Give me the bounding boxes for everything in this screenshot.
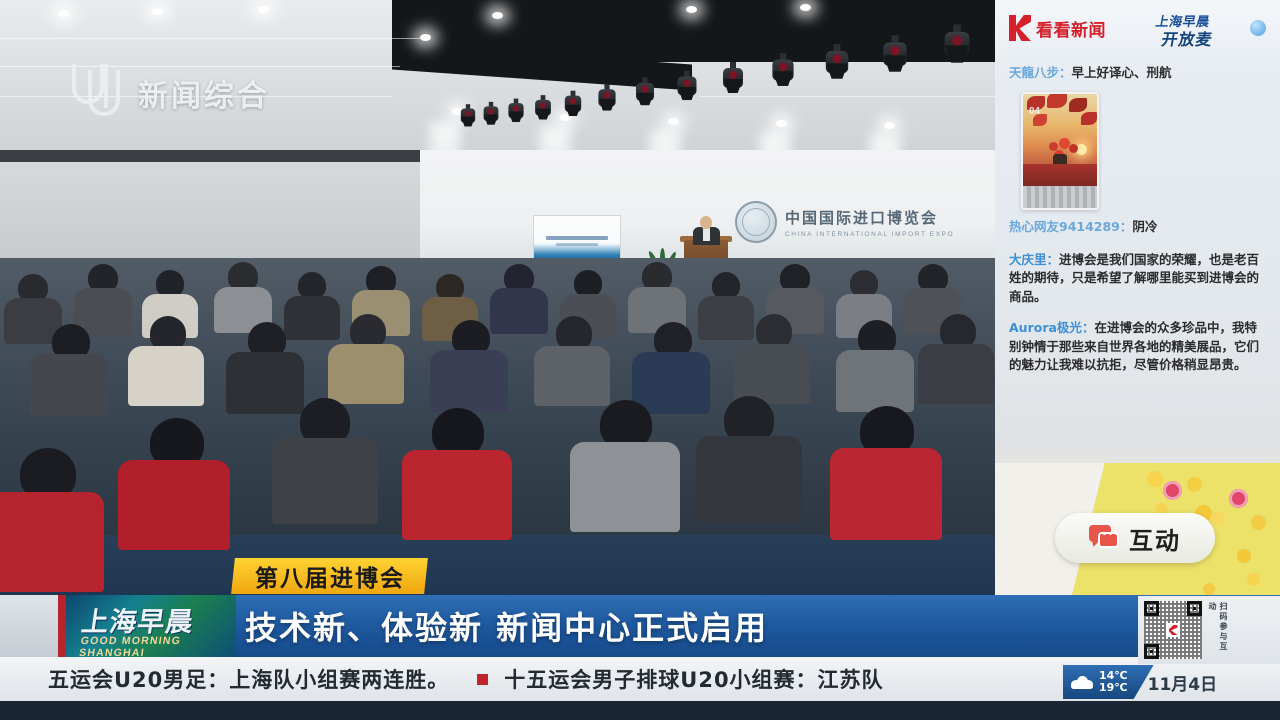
ceiling-downlight <box>668 118 679 125</box>
dragon-mark-icon <box>70 62 128 124</box>
weather-date: 11月4日 <box>1148 670 1218 695</box>
stage-spotlight <box>880 35 911 70</box>
stage-spotlight <box>596 84 618 110</box>
sidebar-header: 看看新闻 上海早晨 开放麦 <box>995 0 1280 56</box>
kankan-news-label: 看看新闻 <box>1036 16 1106 41</box>
bottom-bar <box>0 701 1280 720</box>
message-separator: ： <box>1120 219 1133 234</box>
lower-third: 上海早晨 GOOD MORNING SHANGHAI 技术新、体验新 新闻中心正… <box>0 595 1280 720</box>
channel-name: 新闻综合 <box>138 71 270 115</box>
ceiling-downlight <box>258 6 269 13</box>
stage-spotlight <box>481 102 500 124</box>
backdrop-title-en: CHINA INTERNATIONAL IMPORT EXPO <box>785 231 954 238</box>
ceiling-downlight <box>686 6 697 13</box>
weather-temp-high: 19℃ <box>1099 682 1128 694</box>
stage-spotlight <box>941 24 973 61</box>
ticker-item: 十五运会男子排球U20小组赛：江苏队 <box>504 664 883 694</box>
message-author: 热心网友9414289 <box>1009 219 1120 234</box>
speaker-shirt <box>703 228 710 241</box>
ciie-emblem-icon <box>735 201 777 243</box>
message-separator: ： <box>1047 252 1060 267</box>
stage-spotlight <box>562 91 583 116</box>
message-text: 早上好译心、刑航 <box>1072 65 1172 80</box>
event-tag-badge: 第八届进博会 <box>231 558 428 594</box>
list-item: 热心网友9414289：阴冷 <box>1009 218 1266 237</box>
program-logo-cn: 上海早晨 <box>79 600 196 639</box>
chat-bubbles-icon <box>1089 525 1119 551</box>
stage-spotlight <box>459 104 478 126</box>
program-line-2: 开放麦 <box>1160 26 1215 50</box>
list-item: 大庆里：进博会是我们国家的荣耀，也是老百姓的期待，只是希望了解哪里能买到进博会的… <box>1009 251 1266 307</box>
stage-spotlight <box>769 53 797 85</box>
weather-widget: 14℃ 19℃ 11月4日 <box>1063 665 1217 699</box>
stage-spotlight <box>675 71 700 100</box>
message-author: 大庆里 <box>1009 252 1047 267</box>
program-badge: 上海早晨 开放麦 <box>1154 10 1266 46</box>
stage-spotlight <box>720 62 746 92</box>
list-item: Aurora极光：在进博会的众多珍品中，我特别钟情于那些来自世界各地的精美展品，… <box>1009 319 1266 375</box>
weather-chip: 14℃ 19℃ <box>1063 665 1154 699</box>
ceiling-downlight <box>58 10 69 17</box>
message-text: 阴冷 <box>1132 219 1157 234</box>
program-logo: 上海早晨 GOOD MORNING SHANGHAI <box>58 595 236 657</box>
ceiling-downlight <box>492 12 503 19</box>
blue-dot-icon <box>1250 20 1266 36</box>
kankan-news-logo[interactable]: 看看新闻 <box>1009 15 1106 41</box>
event-tag-label: 第八届进博会 <box>255 559 405 593</box>
stage-spotlight <box>506 99 526 122</box>
interact-label: 互动 <box>1129 521 1181 556</box>
message-separator: ： <box>1059 65 1072 80</box>
qr-panel[interactable]: 扫码参与互动 <box>1138 596 1280 664</box>
video-feed: 中国国际进口博览会 CHINA INTERNATIONAL IMPORT EXP… <box>0 0 995 595</box>
ceiling-downlight <box>776 120 787 127</box>
interact-button[interactable]: 互动 <box>1055 513 1215 563</box>
interaction-sidebar: 看看新闻 上海早晨 开放麦 天龍八步：早上好译心、刑航 <box>995 0 1280 595</box>
red-square-bullet-icon <box>477 674 488 685</box>
message-list[interactable]: 天龍八步：早上好译心、刑航 04 热心网友9414289：阴冷 <box>995 56 1280 463</box>
interact-panel: 互动 <box>995 463 1280 595</box>
stage-spotlight <box>633 78 656 105</box>
ceiling-seam <box>0 38 420 39</box>
qr-label: 扫码参与互动 <box>1207 602 1229 658</box>
ticker-item: 五运会U20男足：上海队小组赛两连胜。 <box>48 664 449 694</box>
program-logo-en: GOOD MORNING SHANGHAI <box>78 635 236 657</box>
stage-spotlight <box>533 95 554 119</box>
message-author: 天龍八步 <box>1009 65 1059 80</box>
message-author: Aurora极光 <box>1009 320 1082 335</box>
headline-text: 技术新、体验新 新闻中心正式启用 <box>245 595 768 657</box>
ceiling-downlight <box>800 4 811 11</box>
qr-code-icon <box>1144 601 1202 659</box>
ceiling-seam <box>700 96 995 97</box>
channel-logo: 新闻综合 <box>70 62 270 124</box>
backdrop-title-cn: 中国国际进口博览会 <box>785 207 954 228</box>
wall-rail-left <box>0 150 420 162</box>
shared-photo-card[interactable]: 04 <box>1021 92 1099 210</box>
ceiling-downlight <box>152 8 163 15</box>
message-separator: ： <box>1082 320 1095 335</box>
audience-seating <box>0 258 995 595</box>
ceiling-downlight <box>420 34 431 41</box>
photo-day-number: 04 <box>1029 106 1040 117</box>
ceiling-downlight <box>884 122 895 129</box>
stage-spotlight <box>822 44 851 78</box>
kankan-k-icon <box>1009 15 1031 41</box>
headline-bar-cap <box>0 595 58 657</box>
expo-logo: 中国国际进口博览会 CHINA INTERNATIONAL IMPORT EXP… <box>735 198 985 246</box>
broadcast-screen: 中国国际进口博览会 CHINA INTERNATIONAL IMPORT EXP… <box>0 0 1280 720</box>
list-item: 天龍八步：早上好译心、刑航 <box>1009 64 1266 83</box>
speaker-head <box>700 216 712 229</box>
cloud-icon <box>1071 675 1093 689</box>
